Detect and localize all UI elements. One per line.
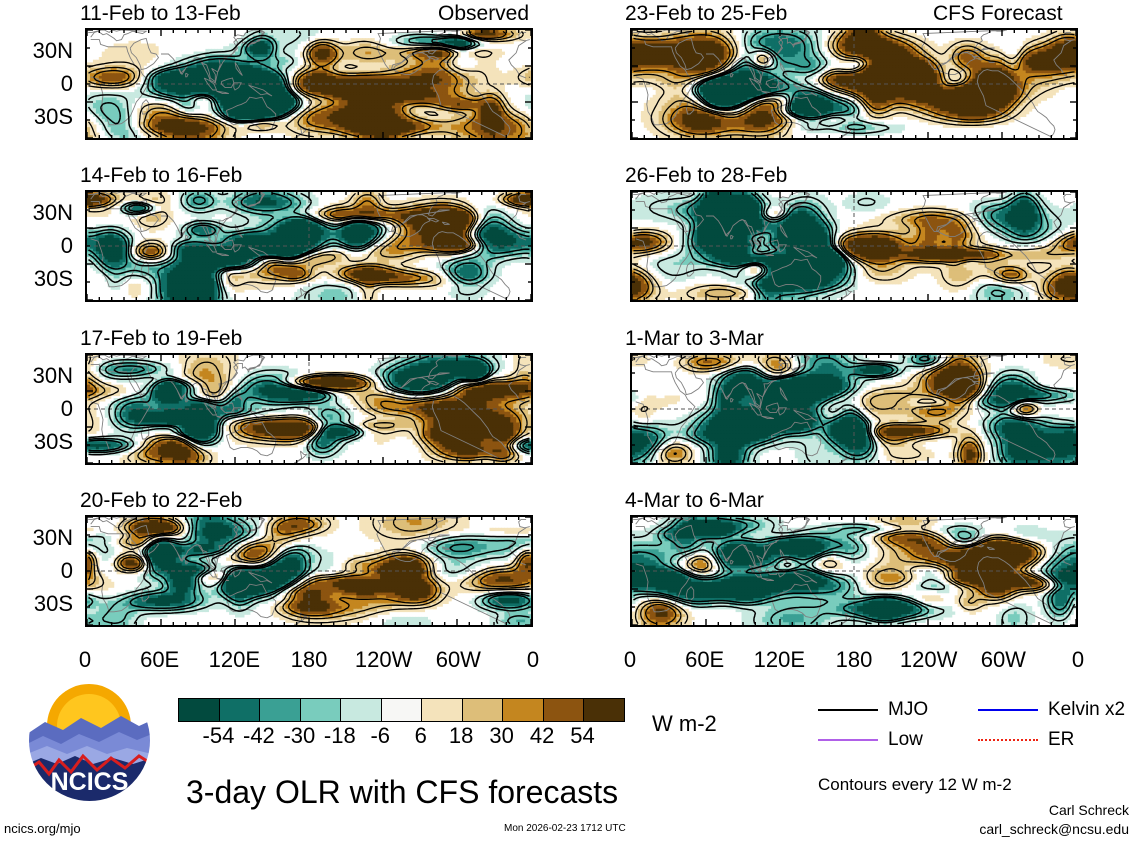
author-email: carl_schreck@ncsu.edu [979, 822, 1129, 836]
panel-title: 1-Mar to 3-Mar [625, 328, 764, 349]
x-axis-tick-label: 60E [665, 649, 745, 671]
legend-label: Kelvin x2 [1048, 700, 1125, 719]
colorbar-segment [179, 699, 220, 721]
colorbar-segment [584, 699, 624, 721]
x-axis-tick-label: 180 [269, 649, 349, 671]
y-axis-tick-label: 0 [0, 73, 73, 95]
panel-title: 11-Feb to 13-Feb [80, 3, 241, 24]
map-panel [630, 190, 1078, 302]
figure-title: 3-day OLR with CFS forecasts [186, 776, 618, 808]
x-axis-tick-label: 120E [739, 649, 819, 671]
legend-line-swatch [818, 739, 878, 741]
panel-title: 26-Feb to 28-Feb [625, 165, 787, 186]
x-axis-tick-label: 60W [963, 649, 1043, 671]
colorbar-tick-label: 54 [553, 725, 613, 747]
map-panel [85, 28, 533, 140]
legend-line-swatch [978, 739, 1038, 741]
y-axis-tick-label: 30N [0, 527, 73, 549]
colorbar-units-label: W m-2 [652, 713, 717, 735]
author-name: Carl Schreck [1049, 803, 1129, 817]
ncics-logo-text: NCICS [51, 768, 129, 796]
y-axis-tick-label: 30N [0, 40, 73, 62]
colorbar-segment [382, 699, 423, 721]
contour-interval-note: Contours every 12 W m-2 [818, 776, 1012, 793]
x-axis-tick-label: 120W [889, 649, 969, 671]
y-axis-tick-label: 30N [0, 202, 73, 224]
map-panel [85, 515, 533, 627]
panel-title: 17-Feb to 19-Feb [80, 328, 242, 349]
y-axis-tick-label: 30N [0, 365, 73, 387]
colorbar-segment [260, 699, 301, 721]
ncics-logo-icon: NCICS [27, 678, 152, 803]
map-panel [85, 190, 533, 302]
colorbar-segment [422, 699, 463, 721]
x-axis-tick-label: 0 [493, 649, 573, 671]
colorbar [178, 698, 625, 722]
panel-title: 14-Feb to 16-Feb [80, 165, 242, 186]
x-axis-tick-label: 0 [45, 649, 125, 671]
colorbar-segment [463, 699, 504, 721]
colorbar-segment [220, 699, 261, 721]
colorbar-segment [301, 699, 342, 721]
x-axis-tick-label: 120W [344, 649, 424, 671]
panel-title: 20-Feb to 22-Feb [80, 490, 242, 511]
panel-title: 23-Feb to 25-Feb [625, 3, 787, 24]
map-panel [85, 353, 533, 465]
colorbar-segment [503, 699, 544, 721]
colorbar-segment [341, 699, 382, 721]
x-axis-tick-label: 0 [590, 649, 670, 671]
legend-line-swatch [978, 709, 1038, 711]
map-panel [630, 515, 1078, 627]
map-panel [630, 353, 1078, 465]
legend-label: ER [1048, 730, 1074, 749]
y-axis-tick-label: 0 [0, 398, 73, 420]
legend-line-swatch [818, 709, 878, 711]
y-axis-tick-label: 30S [0, 268, 73, 290]
generation-timestamp: Mon 2026-02-23 1712 UTC [504, 824, 626, 834]
y-axis-tick-label: 30S [0, 431, 73, 453]
y-axis-tick-label: 0 [0, 235, 73, 257]
site-url: ncics.org/mjo [4, 822, 81, 835]
y-axis-tick-label: 0 [0, 560, 73, 582]
y-axis-tick-label: 30S [0, 106, 73, 128]
map-panel [630, 28, 1078, 140]
x-axis-tick-label: 120E [194, 649, 274, 671]
legend-label: Low [888, 730, 923, 749]
x-axis-tick-label: 60W [418, 649, 498, 671]
x-axis-tick-label: 60E [120, 649, 200, 671]
x-axis-tick-label: 180 [814, 649, 894, 671]
panel-kind-label: Observed [438, 3, 529, 24]
y-axis-tick-label: 30S [0, 593, 73, 615]
panel-title: 4-Mar to 6-Mar [625, 490, 764, 511]
panel-kind-label: CFS Forecast [933, 3, 1063, 24]
x-axis-tick-label: 0 [1038, 649, 1118, 671]
colorbar-segment [544, 699, 585, 721]
legend-label: MJO [888, 700, 928, 719]
